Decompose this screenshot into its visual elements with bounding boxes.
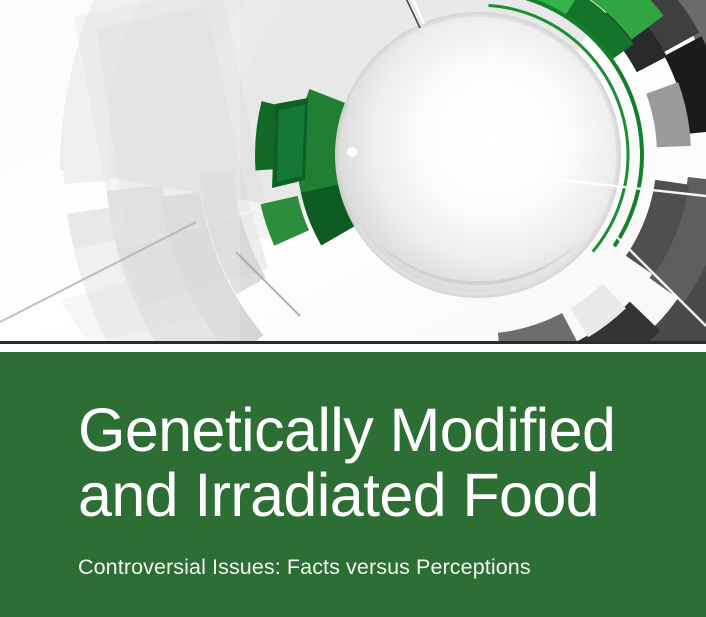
page-title-line-2: and Irradiated Food: [78, 463, 666, 528]
page-subtitle: Controversial Issues: Facts versus Perce…: [78, 554, 666, 580]
title-block: Genetically Modified and Irradiated Food…: [78, 398, 666, 580]
hero-graphic: [0, 0, 706, 341]
page-title-line-1: Genetically Modified: [78, 398, 666, 463]
book-cover: Genetically Modified and Irradiated Food…: [0, 0, 706, 617]
abstract-concentric-tech-circle-icon: [0, 0, 706, 341]
title-band: Genetically Modified and Irradiated Food…: [0, 352, 706, 617]
hero-divider-gap: [0, 344, 706, 352]
